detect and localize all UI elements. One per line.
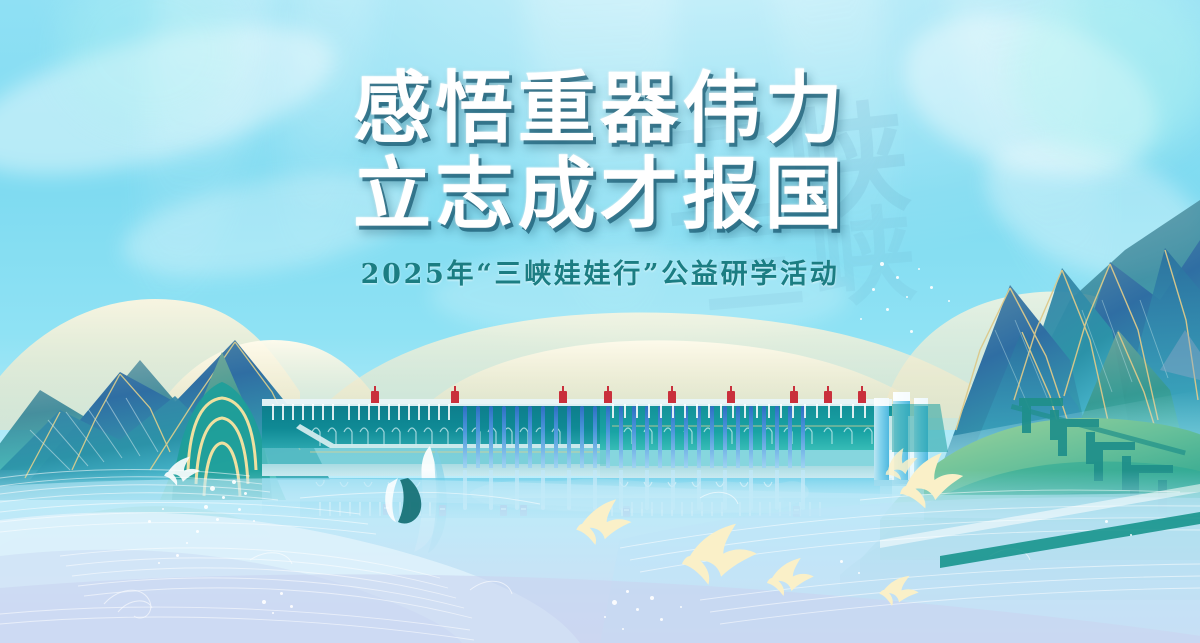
swallow-icon (767, 558, 814, 596)
three-gorges-study-tour-banner: 三峡 三峡 (0, 0, 1200, 643)
title-line-1: 感悟重器伟力 (0, 66, 1200, 152)
title-block: 感悟重器伟力 立志成才报国 2025年“三峡娃娃行”公益研学活动 (0, 66, 1200, 291)
swallow-icon (878, 573, 920, 609)
swallow-icon (895, 450, 967, 512)
title-line-2: 立志成才报国 (0, 152, 1200, 238)
swallow-icon (576, 499, 631, 545)
swallow-icon (682, 524, 757, 585)
white-bird-icon (164, 457, 200, 486)
subtitle: 2025年“三峡娃娃行”公益研学活动 (0, 252, 1200, 291)
